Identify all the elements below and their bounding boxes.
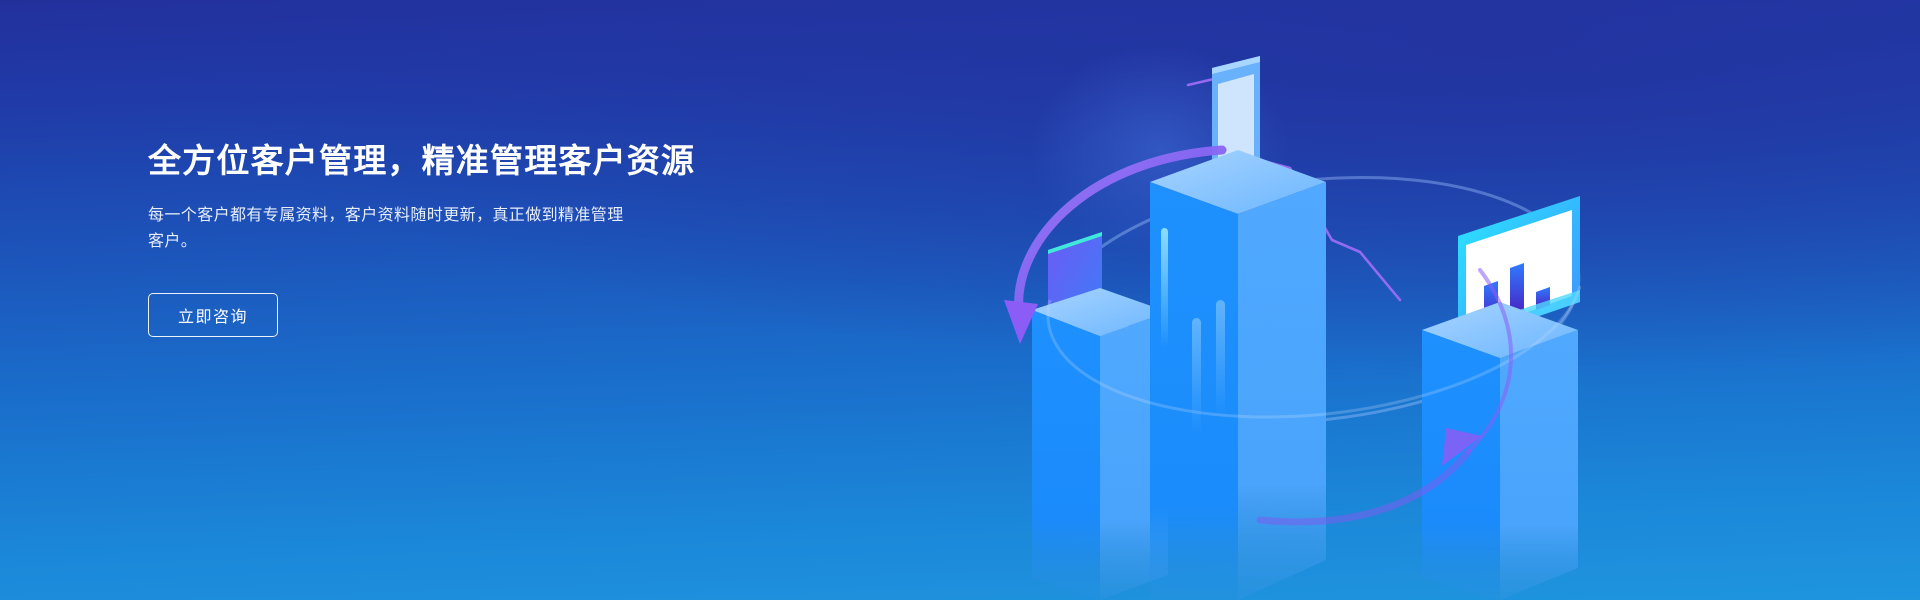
consult-now-button[interactable]: 立即咨询 <box>148 293 278 337</box>
page-title: 全方位客户管理，精准管理客户资源 <box>148 140 788 181</box>
hero-subtitle: 每一个客户都有专属资料，客户资料随时更新，真正做到精准管理客户。 <box>148 203 626 255</box>
isometric-illustration <box>960 0 1660 600</box>
hero-content: 全方位客户管理，精准管理客户资源 每一个客户都有专属资料，客户资料随时更新，真正… <box>148 140 788 337</box>
hero-banner: 全方位客户管理，精准管理客户资源 每一个客户都有专属资料，客户资料随时更新，真正… <box>0 0 1920 600</box>
